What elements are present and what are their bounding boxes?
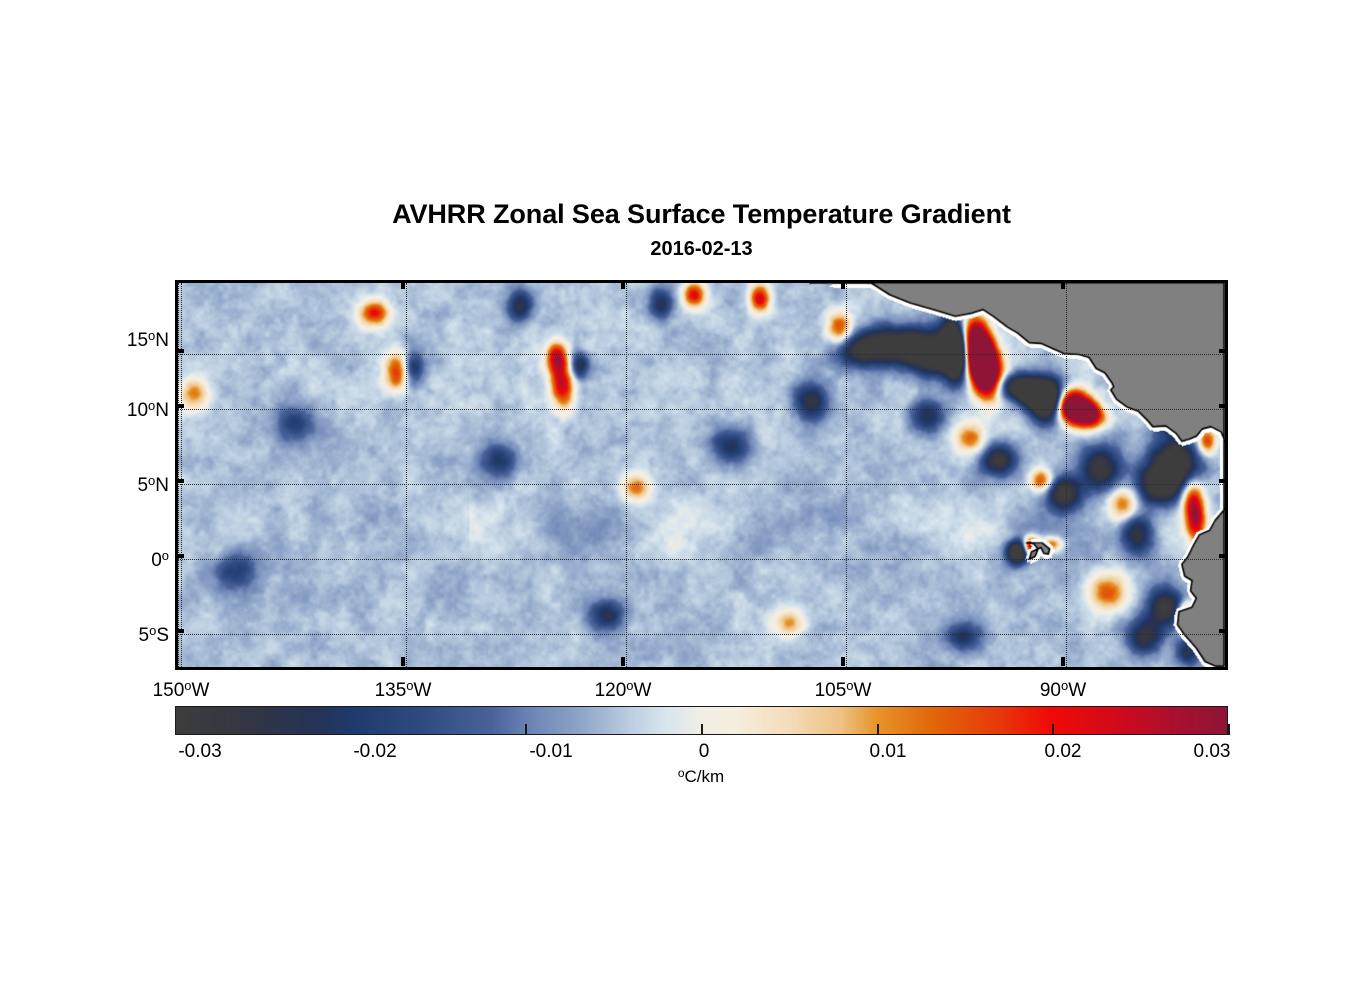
- colorbar-label--0.02: -0.02: [353, 742, 396, 761]
- degree-symbol: o: [846, 678, 853, 693]
- figure-subtitle-date: 2016-02-13: [175, 236, 1228, 262]
- ytick-label-5s-value: 5: [139, 625, 150, 646]
- ytick-0-left: [175, 554, 184, 558]
- ytick-15n-left: [175, 349, 184, 353]
- ytick-10n-right: [1219, 404, 1228, 408]
- colorbar-tick-0.02: [1228, 724, 1230, 735]
- colorbar-tick-0: [877, 724, 879, 735]
- ytick-15n-right: [1219, 349, 1228, 353]
- ytick-0-right: [1219, 554, 1228, 558]
- xtick-label-105w: 105oW: [815, 676, 872, 700]
- colorbar-unit-text: C/km: [685, 767, 725, 786]
- colorbar-unit-label: oC/km: [678, 765, 724, 785]
- xtick-105w-top: [841, 280, 845, 289]
- ytick-5n-left: [175, 479, 184, 483]
- colorbar-tick-0.01: [1052, 724, 1054, 735]
- figure-canvas: AVHRR Zonal Sea Surface Temperature Grad…: [0, 0, 1356, 1000]
- colorbar-label-0.02: 0.02: [1045, 742, 1082, 761]
- xtick-label-150w-value: 150: [153, 680, 185, 701]
- colorbar-label--0.01: -0.01: [529, 742, 572, 761]
- ytick-label-5s: 5oS: [139, 621, 170, 645]
- colorbar-tick--0.01: [701, 724, 703, 735]
- ytick-label-5n-hemi: N: [155, 475, 169, 496]
- ytick-label-10n: 10oN: [127, 396, 169, 420]
- ytick-label-15n: 15oN: [127, 326, 169, 350]
- colorbar-label-0: 0: [699, 742, 710, 761]
- xtick-label-135w-hemi: W: [414, 680, 432, 701]
- ytick-label-10n-value: 10: [127, 400, 148, 421]
- xtick-label-150w: 150oW: [153, 676, 210, 700]
- xtick-label-135w-value: 135: [375, 680, 407, 701]
- xtick-label-90w-hemi: W: [1068, 680, 1086, 701]
- ytick-label-5n: 5oN: [137, 471, 169, 495]
- colorbar: [175, 706, 1228, 735]
- xtick-135w-bottom: [401, 657, 405, 666]
- ytick-label-15n-value: 15: [127, 330, 148, 351]
- xtick-label-105w-value: 105: [815, 680, 847, 701]
- degree-symbol: o: [678, 766, 685, 780]
- ytick-label-10n-hemi: N: [155, 400, 169, 421]
- ytick-5n-right: [1219, 479, 1228, 483]
- xtick-label-120w-hemi: W: [634, 680, 652, 701]
- degree-symbol: o: [184, 678, 191, 693]
- ytick-label-0-value: 0: [151, 550, 162, 571]
- sst-gradient-heatmap: [178, 283, 1225, 667]
- ytick-10n-left: [175, 404, 184, 408]
- colorbar-label-0.03: 0.03: [1194, 742, 1231, 761]
- colorbar-tick--0.02: [525, 724, 527, 735]
- colorbar-label-0.01: 0.01: [870, 742, 907, 761]
- xtick-90w-top: [1061, 280, 1065, 289]
- degree-symbol: o: [626, 678, 633, 693]
- xtick-label-150w-hemi: W: [192, 680, 210, 701]
- page-title: AVHRR Zonal Sea Surface Temperature Grad…: [175, 198, 1228, 230]
- xtick-label-90w: 90oW: [1040, 676, 1086, 700]
- xtick-label-135w: 135oW: [375, 676, 432, 700]
- xtick-label-120w: 120oW: [595, 676, 652, 700]
- title-block: AVHRR Zonal Sea Surface Temperature Grad…: [175, 198, 1228, 262]
- xtick-135w-top: [401, 280, 405, 289]
- colorbar-label--0.03: -0.03: [178, 742, 221, 761]
- xtick-label-90w-value: 90: [1040, 680, 1061, 701]
- ytick-label-0: 0o: [151, 546, 169, 570]
- ytick-5s-right: [1219, 629, 1228, 633]
- xtick-105w-bottom: [841, 657, 845, 666]
- ytick-label-5s-hemi: S: [156, 625, 169, 646]
- xtick-label-105w-hemi: W: [854, 680, 872, 701]
- xtick-120w-top: [621, 280, 625, 289]
- ytick-label-15n-hemi: N: [155, 330, 169, 351]
- degree-symbol: o: [406, 678, 413, 693]
- map-axes: [175, 280, 1228, 670]
- xtick-label-120w-value: 120: [595, 680, 627, 701]
- xtick-90w-bottom: [1061, 657, 1065, 666]
- ytick-5s-left: [175, 629, 184, 633]
- xtick-120w-bottom: [621, 657, 625, 666]
- degree-symbol: o: [162, 548, 169, 563]
- ytick-label-5n-value: 5: [137, 475, 148, 496]
